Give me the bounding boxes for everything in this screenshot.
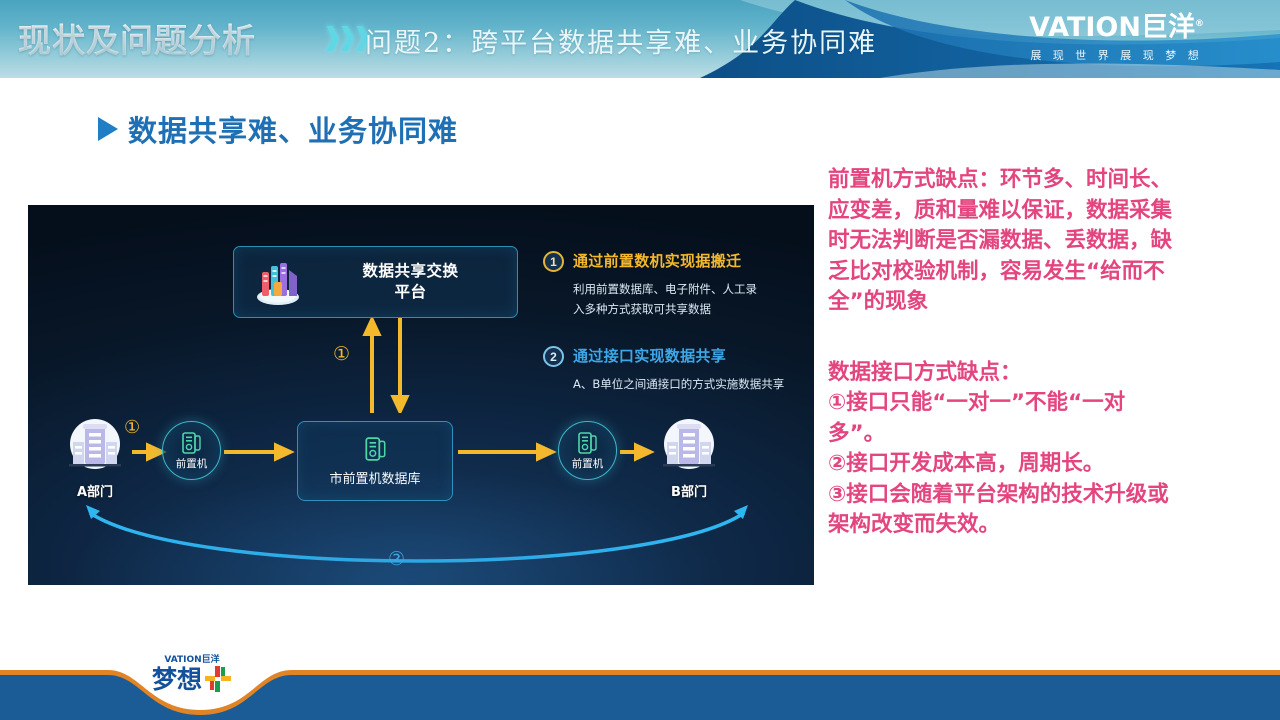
platform-label: 数据共享交换 平台 — [316, 261, 517, 303]
legend-body-2-line1: A、B单位之间通接口的方式实施数据共享 — [573, 374, 805, 394]
platform-label-line1: 数据共享交换 — [316, 261, 505, 282]
note-1-line-5: 全”的现象 — [828, 287, 1256, 318]
note-1-line-3: 时无法判断是否漏数据、丢数据，缺 — [828, 226, 1256, 257]
footer-logo-main-text: 梦想 — [152, 667, 202, 692]
legend-heading-2: 通过接口实现数据共享 — [573, 345, 726, 366]
front-end-1-label: 前置机 — [176, 456, 208, 471]
note-2-line-4: ②接口开发成本高，周期长。 — [828, 449, 1256, 480]
legend-body-2: A、B单位之间通接口的方式实施数据共享 — [573, 374, 805, 394]
note-2-line-1: 数据接口方式缺点： — [828, 358, 1256, 389]
notes-panel: 前置机方式缺点：环节多、时间长、 应变差，质和量难以保证，数据采集 时无法判断是… — [828, 165, 1256, 541]
node-front-end-2: 前置机 — [558, 421, 617, 480]
dept-a-label: A部门 — [59, 481, 131, 500]
note-2-line-5: ③接口会随着平台架构的技术升级或 — [828, 480, 1256, 511]
platform-box: 数据共享交换 平台 — [233, 246, 518, 318]
page-header: 现状及问题分析 ❱❱❱ 问题2：跨平台数据共享难、业务协同难 VATION巨洋®… — [0, 0, 1280, 78]
vertical-flow-arrows — [362, 318, 414, 413]
note-2-line-3: 多”。 — [828, 419, 1256, 450]
city-database-label: 市前置机数据库 — [329, 468, 420, 487]
node-city-database: 市前置机数据库 — [297, 421, 453, 501]
note-block-1: 前置机方式缺点：环节多、时间长、 应变差，质和量难以保证，数据采集 时无法判断是… — [828, 165, 1256, 318]
server-icon — [576, 431, 599, 455]
footer-logo-brand: VATION巨洋 — [152, 652, 232, 665]
server-icon — [180, 431, 203, 455]
legend-body-1-line2: 入多种方式获取可共享数据 — [573, 299, 805, 319]
dept-b-label: B部门 — [653, 481, 725, 500]
diagram-legend: 1 通过前置数机实现据搬迁 利用前置数据库、电子附件、人工录 入多种方式获取可共… — [543, 250, 805, 394]
legend-badge-2: 2 — [543, 346, 564, 367]
node-front-end-1: 前置机 — [162, 421, 221, 480]
brand-logo: VATION巨洋® 展 现 世 界 展 现 梦 想 — [1029, 14, 1204, 63]
note-1-line-4: 乏比对校验机制，容易发生“给而不 — [828, 257, 1256, 288]
front-end-2-label: 前置机 — [572, 456, 604, 471]
registered-mark: ® — [1195, 19, 1204, 29]
legend-body-1-line1: 利用前置数据库、电子附件、人工录 — [573, 279, 805, 299]
triangle-right-icon — [98, 117, 118, 141]
legend-heading-1: 通过前置数机实现据搬迁 — [573, 250, 741, 271]
server-icon — [363, 436, 388, 462]
flow-marker-vertical: ① — [333, 343, 350, 365]
note-2-line-2: ①接口只能“一对一”不能“一对 — [828, 388, 1256, 419]
legend-badge-1: 1 — [543, 251, 564, 272]
section-heading: 数据共享难、业务协同难 — [98, 108, 458, 150]
note-1-line-2: 应变差，质和量难以保证，数据采集 — [828, 196, 1256, 227]
legend-body-1: 利用前置数据库、电子附件、人工录 入多种方式获取可共享数据 — [573, 279, 805, 319]
node-dept-a: A部门 — [59, 418, 131, 500]
building-icon — [656, 418, 722, 474]
isometric-city-icon — [250, 256, 306, 308]
note-1-line-1: 前置机方式缺点：环节多、时间长、 — [828, 165, 1256, 196]
platform-label-line2: 平台 — [316, 282, 505, 303]
page-title: 现状及问题分析 — [18, 14, 256, 62]
note-block-2: 数据接口方式缺点： ①接口只能“一对一”不能“一对 多”。 ②接口开发成本高，周… — [828, 358, 1256, 541]
note-2-line-6: 架构改变而失效。 — [828, 510, 1256, 541]
brand-name-text: VATION巨洋 — [1029, 12, 1195, 43]
triple-chevron-icon: ❱❱❱ — [322, 22, 367, 51]
brand-name: VATION巨洋® — [1029, 14, 1204, 41]
brand-tagline: 展 现 世 界 展 现 梦 想 — [1029, 47, 1204, 63]
building-icon — [62, 418, 128, 474]
section-title: 数据共享难、业务协同难 — [128, 108, 458, 150]
footer-logo: VATION巨洋 梦想 — [152, 652, 232, 693]
node-dept-b: B部门 — [653, 418, 725, 500]
legend-item-2: 2 通过接口实现数据共享 — [543, 345, 805, 367]
architecture-diagram: 数据共享交换 平台 1 通过前置数机实现据搬迁 利用前置数据库、电子附件、人工录… — [28, 205, 814, 585]
flow-marker-bottom: ② — [388, 548, 405, 570]
legend-item-1: 1 通过前置数机实现据搬迁 — [543, 250, 805, 272]
header-subtitle: 问题2：跨平台数据共享难、业务协同难 — [365, 21, 877, 60]
footer-logo-main-row: 梦想 — [152, 665, 232, 693]
colored-plus-icon — [204, 665, 232, 693]
